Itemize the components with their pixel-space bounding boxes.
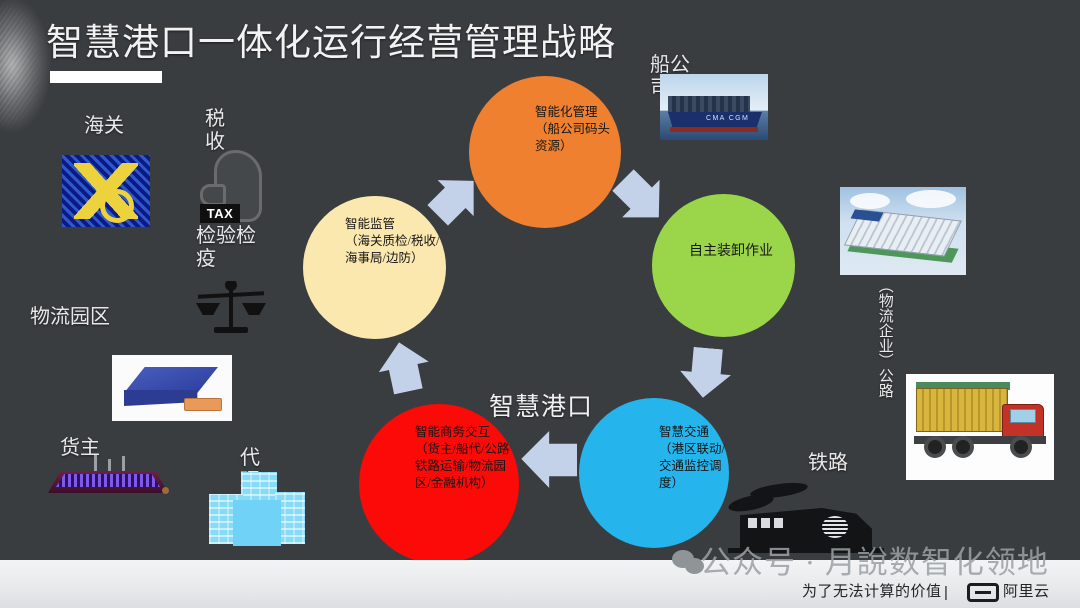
slide-canvas: 智慧港口一体化运行经营管理战略 智能化管理 （船公司码头资源） 智能监管 （海关… xyxy=(0,0,1080,608)
circle-text-intelligent-supervision: 智能监管 （海关质检/税收/海事局/边防） xyxy=(345,216,441,267)
circle-subtext: （海关质检/税收/海事局/边防） xyxy=(345,233,441,267)
aliyun-logo-icon xyxy=(967,583,999,602)
customs-emblem-icon xyxy=(62,155,150,227)
circle-text-smart-transport: 智慧交通 （港区联动/交通监控调度） xyxy=(659,424,731,492)
circle-text-autonomous-loading: 自主装卸作业 xyxy=(671,243,791,262)
circle-heading: 自主装卸作业 xyxy=(671,243,791,262)
watermark-divider: | xyxy=(944,584,948,601)
container-truck-image xyxy=(906,374,1054,480)
circle-heading: 智能商务交互 xyxy=(415,424,511,441)
label-customs: 海关 xyxy=(84,115,144,138)
circle-subtext: （船公司码头资源） xyxy=(535,121,621,155)
watermark-account-name: 公众号 · 月說数智化领地 xyxy=(700,537,1049,582)
ship-brand-text: CMA CGM xyxy=(706,115,749,122)
circle-heading: 智能化管理 xyxy=(535,104,621,121)
label-logistics-enterprise-highway: （物流企业）公路 xyxy=(876,278,892,398)
scales-of-justice-icon xyxy=(194,281,268,337)
circle-heading: 智慧交通 xyxy=(659,424,731,441)
page-title: 智慧港口一体化运行经营管理战略 xyxy=(46,12,616,66)
arrow-loading-to-transport-icon xyxy=(678,346,734,402)
label-logistics-park: 物流园区 xyxy=(30,306,114,329)
circle-text-intelligent-management: 智能化管理 （船公司码头资源） xyxy=(535,104,621,155)
watermark-tagline: 为了无法计算的价值 xyxy=(802,580,942,601)
circle-autonomous-loading[interactable] xyxy=(652,194,795,337)
circle-text-smart-business: 智能商务交互 （货主/船代/公路铁路运输/物流园区/金融机构） xyxy=(415,424,511,492)
tax-badge-label: TAX xyxy=(200,204,240,223)
circle-heading: 智能监管 xyxy=(345,216,441,233)
logistics-park-image xyxy=(112,355,232,421)
warehouse-image xyxy=(840,187,966,275)
agent-building-icon xyxy=(203,470,313,550)
factory-icon xyxy=(42,455,177,507)
center-caption: 智慧港口 xyxy=(489,387,593,423)
watermark-brand: 阿里云 xyxy=(1003,580,1050,601)
title-underline-bar xyxy=(50,71,162,83)
arrow-transport-to-business-icon xyxy=(519,431,577,489)
label-inspection-quarantine: 检验检疫 xyxy=(196,225,258,271)
container-ship-image: CMA CGM xyxy=(660,74,768,140)
label-railway: 铁路 xyxy=(808,452,870,475)
arrow-business-to-supervision-icon xyxy=(372,335,434,397)
circle-subtext: （港区联动/交通监控调度） xyxy=(659,441,731,492)
circle-subtext: （货主/船代/公路铁路运输/物流园区/金融机构） xyxy=(415,441,511,492)
